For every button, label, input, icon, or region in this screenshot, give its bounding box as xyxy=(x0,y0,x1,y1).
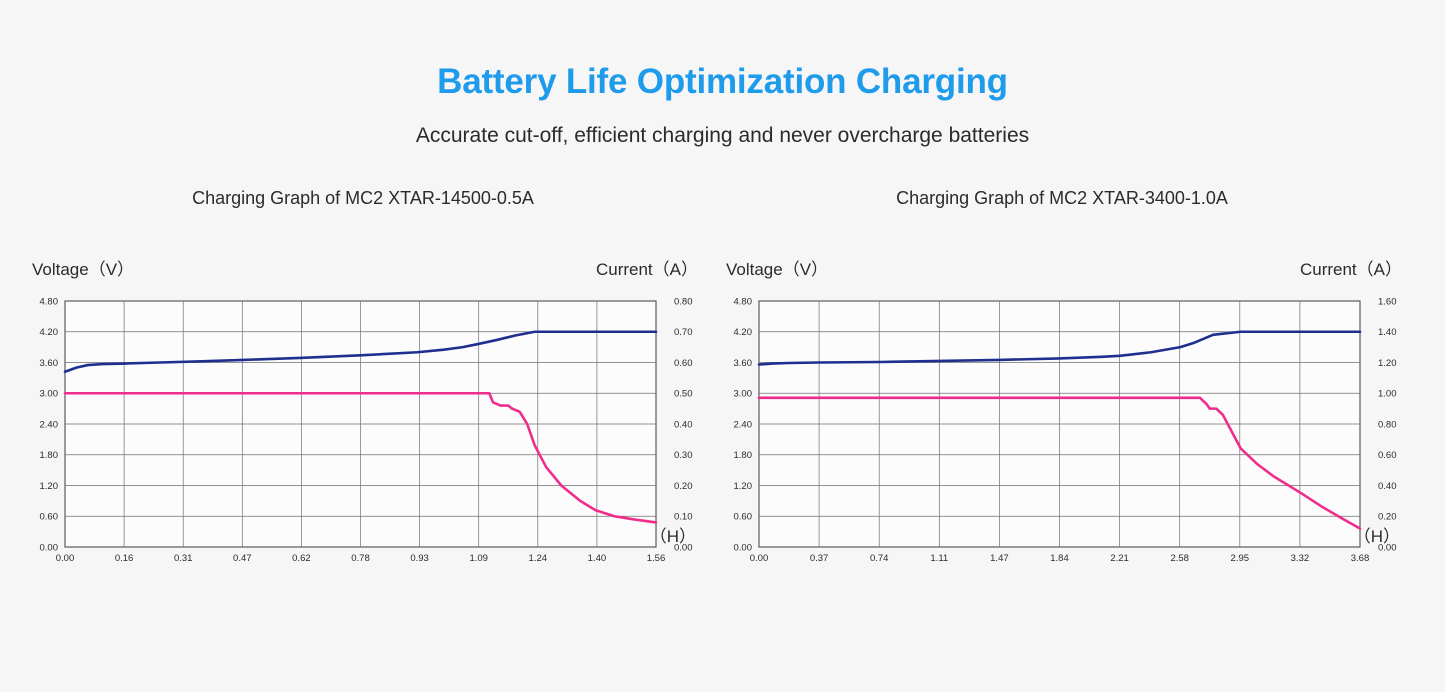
x-tick-label: 1.56 xyxy=(647,553,666,564)
y2-tick-label: 0.00 xyxy=(674,542,693,553)
chart-caption-right: Charging Graph of MC2 XTAR-3400-1.0A xyxy=(712,188,1412,209)
y-tick-label: 4.80 xyxy=(734,296,753,307)
y2-tick-label: 0.20 xyxy=(674,481,693,492)
y2-tick-label: 0.10 xyxy=(674,512,693,523)
y2-tick-label: 0.80 xyxy=(674,296,693,307)
y2-tick-label: 1.00 xyxy=(1378,389,1397,400)
chart-block-right: Charging Graph of MC2 XTAR-3400-1.0A Vol… xyxy=(712,175,1412,625)
y2-tick-label: 0.60 xyxy=(674,358,693,369)
x-tick-label: 1.09 xyxy=(469,553,488,564)
x-tick-label: 1.24 xyxy=(529,553,548,564)
y2-tick-label: 0.60 xyxy=(1378,450,1397,461)
y2-tick-label: 0.40 xyxy=(674,419,693,430)
y2-tick-label: 0.20 xyxy=(1378,512,1397,523)
chart-block-left: Charging Graph of MC2 XTAR-14500-0.5A Vo… xyxy=(18,175,708,625)
y-tick-label: 3.60 xyxy=(40,358,59,369)
y2-tick-label: 0.70 xyxy=(674,327,693,338)
y2-tick-label: 1.20 xyxy=(1378,358,1397,369)
x-tick-label: 0.00 xyxy=(750,553,769,564)
x-tick-label: 3.32 xyxy=(1291,553,1310,564)
y2-tick-label: 0.30 xyxy=(674,450,693,461)
y2-tick-label: 0.50 xyxy=(674,389,693,400)
y-axis-title-voltage-right: Voltage（V） xyxy=(726,255,828,280)
x-tick-label: 0.37 xyxy=(810,553,829,564)
y-tick-label: 0.60 xyxy=(734,512,753,523)
x-tick-label: 0.16 xyxy=(115,553,134,564)
x-tick-label: 0.93 xyxy=(410,553,429,564)
page-title: Battery Life Optimization Charging xyxy=(0,62,1445,102)
y-tick-label: 4.20 xyxy=(40,327,59,338)
page-subtitle: Accurate cut-off, efficient charging and… xyxy=(0,124,1445,148)
y-tick-label: 1.80 xyxy=(40,450,59,461)
y-tick-label: 0.00 xyxy=(40,542,59,553)
y-tick-label: 3.00 xyxy=(734,389,753,400)
y-tick-label: 2.40 xyxy=(40,419,59,430)
x-tick-label: 0.74 xyxy=(870,553,889,564)
x-tick-label: 3.68 xyxy=(1351,553,1370,564)
x-tick-label: 1.84 xyxy=(1050,553,1069,564)
y-tick-label: 3.60 xyxy=(734,358,753,369)
x-tick-label: 2.58 xyxy=(1170,553,1189,564)
y-axis-title-voltage-left: Voltage（V） xyxy=(32,255,134,280)
y2-tick-label: 1.60 xyxy=(1378,296,1397,307)
y-tick-label: 1.20 xyxy=(734,481,753,492)
y-tick-label: 1.20 xyxy=(40,481,59,492)
x-tick-label: 1.47 xyxy=(990,553,1009,564)
y2-tick-label: 0.00 xyxy=(1378,542,1397,553)
y-tick-label: 0.60 xyxy=(40,512,59,523)
x-tick-label: 1.11 xyxy=(930,553,948,564)
chart-caption-left: Charging Graph of MC2 XTAR-14500-0.5A xyxy=(18,188,708,209)
x-tick-label: 2.95 xyxy=(1231,553,1250,564)
y-tick-label: 1.80 xyxy=(734,450,753,461)
x-tick-label: 0.00 xyxy=(56,553,75,564)
x-tick-label: 0.78 xyxy=(351,553,370,564)
y-tick-label: 0.00 xyxy=(734,542,753,553)
y-tick-label: 3.00 xyxy=(40,389,59,400)
y-tick-label: 4.20 xyxy=(734,327,753,338)
x-tick-label: 0.31 xyxy=(174,553,193,564)
y2-tick-label: 0.80 xyxy=(1378,419,1397,430)
y-tick-label: 2.40 xyxy=(734,419,753,430)
y-axis-title-current-right: Current（A） xyxy=(1300,255,1402,280)
y-axis-title-current-left: Current（A） xyxy=(596,255,698,280)
y2-tick-label: 0.40 xyxy=(1378,481,1397,492)
y2-tick-label: 1.40 xyxy=(1378,327,1397,338)
x-tick-label: 1.40 xyxy=(588,553,607,564)
plot-area-right: 0.000.601.201.802.403.003.604.204.800.00… xyxy=(712,287,1412,577)
x-tick-label: 0.47 xyxy=(233,553,252,564)
y-tick-label: 4.80 xyxy=(40,296,59,307)
x-tick-label: 0.62 xyxy=(292,553,311,564)
plot-area-left: 0.000.601.201.802.403.003.604.204.800.00… xyxy=(18,287,708,577)
x-tick-label: 2.21 xyxy=(1110,553,1129,564)
